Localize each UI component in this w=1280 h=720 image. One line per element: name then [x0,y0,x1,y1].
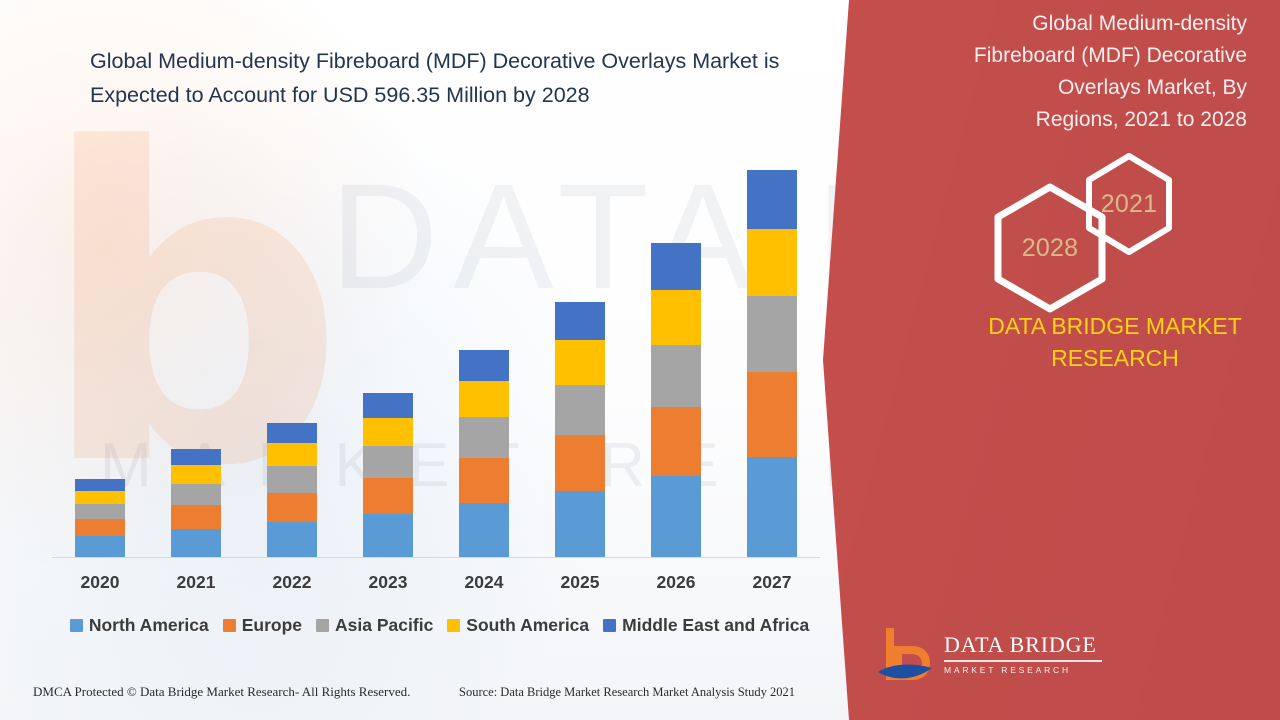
bar-segment [459,458,509,503]
legend-label: North America [89,615,209,636]
bar-segment [171,529,221,557]
bar-segment [363,514,413,557]
stacked-bar-2026[interactable] [651,243,701,557]
bar-segment [267,443,317,467]
infographic-canvas: b DATA BRIDGE MARKET RESEARCH Global Med… [0,0,1280,720]
bar-segment [747,170,797,229]
legend-swatch-icon [447,619,460,632]
legend-item-north-america[interactable]: North America [70,615,209,636]
stacked-bar-2022[interactable] [267,423,317,557]
bar-segment [363,446,413,478]
bar-segment [363,393,413,418]
hexagon-2028-label: 2028 [1022,234,1079,263]
bar-segment [171,484,221,505]
bar-segment [747,457,797,557]
x-tick-2021: 2021 [148,572,244,593]
logo-title: DATA BRIDGE [944,632,1104,658]
source-note: Source: Data Bridge Market Research Mark… [459,685,795,700]
x-axis-tick-labels: 20202021202220232024202520262027 [52,572,820,593]
bar-slot-2022 [244,150,340,557]
stacked-bar-2020[interactable] [75,479,125,557]
stacked-bar-2025[interactable] [555,302,605,557]
x-tick-2020: 2020 [52,572,148,593]
bar-slot-2024 [436,150,532,557]
x-tick-2027: 2027 [724,572,820,593]
copyright-notice: DMCA Protected © Data Bridge Market Rese… [33,684,410,700]
bar-segment [459,381,509,417]
bar-segment [363,478,413,514]
legend-swatch-icon [70,619,83,632]
bar-segment [651,476,701,557]
bar-segment [267,522,317,557]
page-title: Global Medium-density Fibreboard (MDF) D… [90,44,790,112]
legend-item-south-america[interactable]: South America [447,615,589,636]
bar-slot-2020 [52,150,148,557]
legend-swatch-icon [603,619,616,632]
bar-segment [171,505,221,529]
bar-segment [267,493,317,522]
logo-text: DATA BRIDGE MARKET RESEARCH [944,632,1104,675]
hexagon-2028: 2028 [992,182,1108,314]
bar-segment [75,491,125,504]
chart-panel: Global Medium-density Fibreboard (MDF) D… [0,0,900,720]
bar-segment [747,229,797,296]
bar-segment [75,479,125,490]
legend-label: Asia Pacific [335,615,433,636]
bar-segment [555,385,605,435]
bar-segment [171,449,221,465]
legend-swatch-icon [316,619,329,632]
x-tick-2025: 2025 [532,572,628,593]
legend-item-europe[interactable]: Europe [223,615,302,636]
bar-segment [651,345,701,407]
bar-segment [555,491,605,557]
bar-segment [75,536,125,557]
chart-legend: North AmericaEuropeAsia PacificSouth Ame… [52,615,827,636]
stacked-bar-chart [52,150,820,558]
bar-segment [651,243,701,290]
bar-slot-2021 [148,150,244,557]
x-tick-2023: 2023 [340,572,436,593]
legend-label: South America [466,615,589,636]
logo-subtitle: MARKET RESEARCH [944,665,1104,675]
bar-segment [459,350,509,381]
bar-segment [459,503,509,557]
legend-item-asia-pacific[interactable]: Asia Pacific [316,615,433,636]
bar-slot-2025 [532,150,628,557]
brand-name-text: DATA BRIDGE MARKET RESEARCH [960,310,1270,374]
bar-segment [555,435,605,491]
legend-label: Europe [242,615,302,636]
chart-subject-heading: Global Medium-density Fibreboard (MDF) D… [971,8,1247,136]
bar-segment [75,504,125,519]
legend-swatch-icon [223,619,236,632]
bar-segment [651,407,701,476]
x-tick-2024: 2024 [436,572,532,593]
bar-segment [747,296,797,372]
bar-segment [459,417,509,458]
chart-bars [52,150,820,557]
legend-item-middle-east-and-africa[interactable]: Middle East and Africa [603,615,809,636]
x-tick-2026: 2026 [628,572,724,593]
bar-slot-2023 [340,150,436,557]
bar-segment [651,290,701,345]
bar-segment [171,465,221,484]
x-tick-2022: 2022 [244,572,340,593]
bar-segment [555,340,605,384]
legend-label: Middle East and Africa [622,615,809,636]
bar-segment [363,418,413,446]
bar-segment [747,372,797,457]
bar-slot-2026 [628,150,724,557]
bar-segment [267,423,317,443]
data-bridge-logo: DATA BRIDGE MARKET RESEARCH [872,622,1104,694]
stacked-bar-2027[interactable] [747,170,797,557]
bar-segment [555,302,605,340]
bar-slot-2027 [724,150,820,557]
logo-divider [944,660,1102,662]
bar-segment [75,519,125,536]
stacked-bar-2021[interactable] [171,449,221,557]
stacked-bar-2024[interactable] [459,350,509,557]
bar-segment [267,466,317,493]
x-axis-line [52,557,820,558]
hexagon-2021-label: 2021 [1101,190,1158,219]
stacked-bar-2023[interactable] [363,393,413,557]
logo-mark-icon [872,624,938,690]
